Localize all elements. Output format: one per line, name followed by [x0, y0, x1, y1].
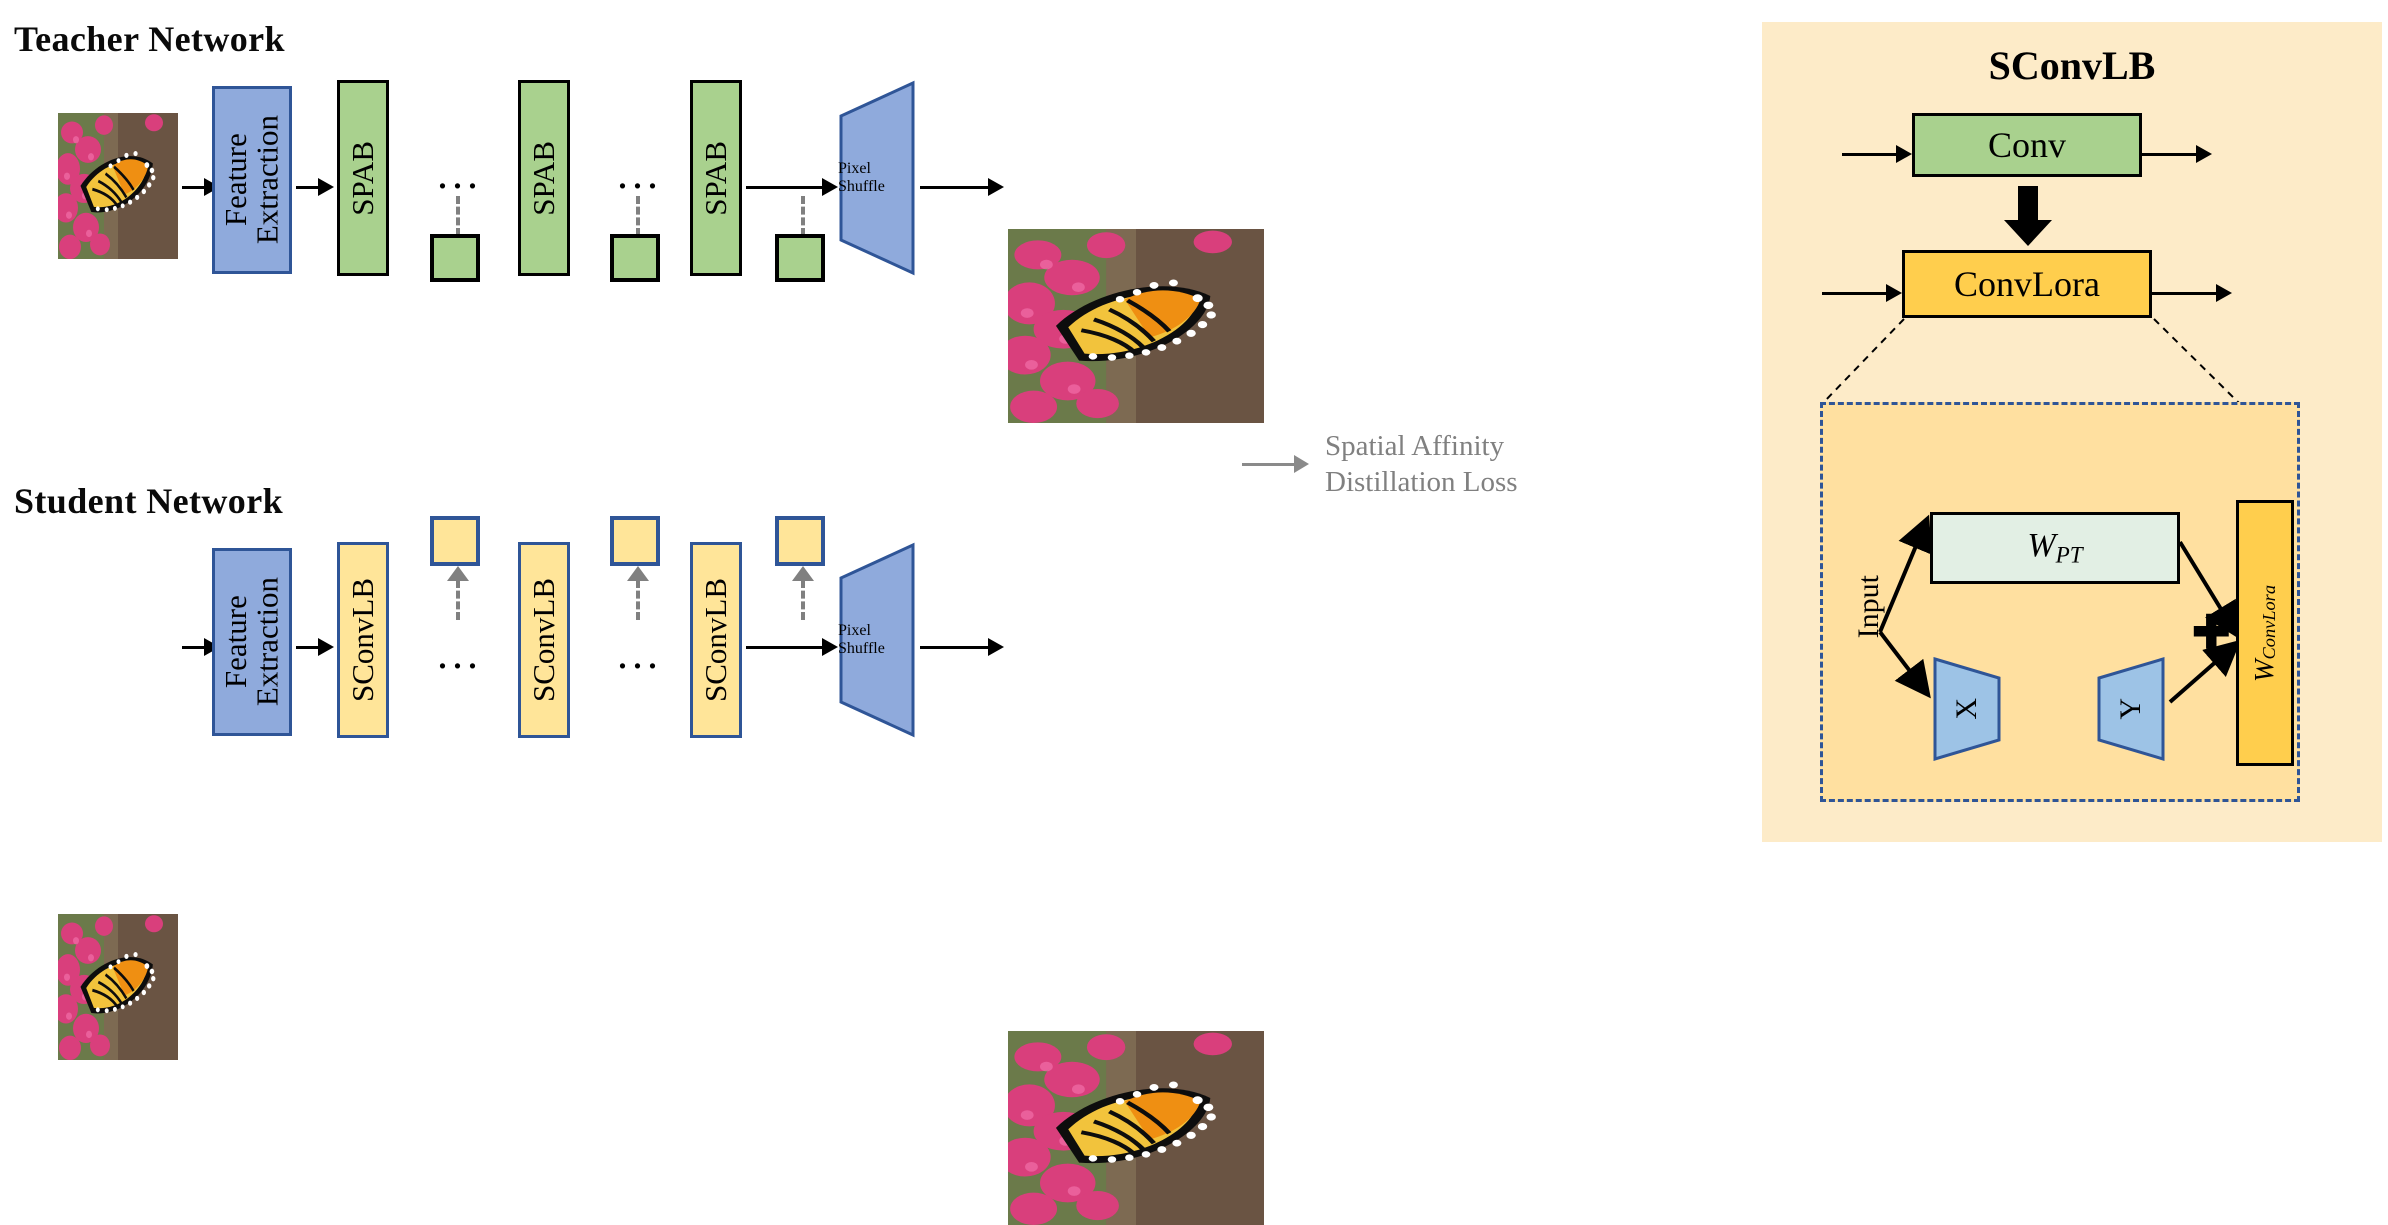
- student-sconvlb-block-2: SConvLB: [518, 542, 570, 738]
- student-dash-arrowhead-3: [792, 566, 814, 581]
- panel-conv-in-arrow: [1842, 145, 1912, 163]
- student-sconvlb-label-2: SConvLB: [528, 578, 560, 702]
- teacher-arrow-4: [920, 178, 1004, 196]
- teacher-feature-extraction-block: Feature Extraction: [212, 86, 292, 274]
- convlora-wconvlora-label: W: [2249, 659, 2279, 682]
- student-sconvlb-label-1: SConvLB: [347, 578, 379, 702]
- student-arrow-3: [746, 638, 838, 656]
- panel-convlora-block: ConvLora: [1902, 250, 2152, 318]
- student-dash-arrowhead-2: [627, 566, 649, 581]
- teacher-feature-square-2: [610, 234, 660, 282]
- student-dash-line-1: [456, 580, 460, 620]
- student-pixel-shuffle-block: Pixel Shuffle: [838, 542, 916, 738]
- student-arrow-4: [920, 638, 1004, 656]
- student-sconvlb-label-3: SConvLB: [700, 578, 732, 702]
- teacher-spab-block-1: SPAB: [337, 80, 389, 276]
- panel-conv-block: Conv: [1912, 113, 2142, 177]
- student-feature-square-2: [610, 516, 660, 566]
- student-sconvlb-block-3: SConvLB: [690, 542, 742, 738]
- teacher-spab-label-2: SPAB: [528, 141, 560, 216]
- teacher-dash-line-1: [456, 196, 460, 236]
- student-sconvlb-block-1: SConvLB: [337, 542, 389, 738]
- student-feature-square-1: [430, 516, 480, 566]
- student-dash-line-3: [801, 580, 805, 620]
- teacher-dash-line-3: [801, 196, 805, 236]
- student-ellipsis-2: ...: [617, 632, 662, 676]
- panel-conv-label: Conv: [1988, 124, 2066, 166]
- teacher-spab-label-1: SPAB: [347, 141, 379, 216]
- student-pixel-shuffle-label: Pixel Shuffle: [838, 622, 916, 658]
- teacher-pixel-shuffle-label: Pixel Shuffle: [838, 160, 916, 196]
- student-dash-line-2: [636, 580, 640, 620]
- teacher-feature-extraction-label: Feature Extraction: [220, 115, 283, 244]
- student-feature-square-3: [775, 516, 825, 566]
- student-output-image: [1008, 1031, 1264, 1225]
- panel-convlora-label: ConvLora: [1954, 263, 2100, 305]
- teacher-arrow-3: [746, 178, 838, 196]
- convlora-wconvlora-block: WConvLora: [2236, 500, 2294, 766]
- student-input-image: [58, 914, 178, 1060]
- panel-convlora-in-arrow: [1822, 284, 1902, 302]
- panel-conv-out-arrow: [2142, 145, 2212, 163]
- distillation-loss-arrow: [1242, 455, 1310, 473]
- convlora-wconvlora-subscript: ConvLora: [2260, 585, 2280, 659]
- panel-convlora-out-arrow: [2152, 284, 2232, 302]
- teacher-ellipsis-2: ...: [617, 152, 662, 196]
- teacher-spab-block-2: SPAB: [518, 80, 570, 276]
- convlora-plus-icon: ✚: [2192, 610, 2231, 656]
- teacher-input-image: [58, 113, 178, 259]
- teacher-feature-square-1: [430, 234, 480, 282]
- teacher-output-image: [1008, 229, 1264, 423]
- teacher-network-title: Teacher Network: [14, 18, 285, 60]
- sconvlb-panel-title: SConvLB: [1762, 42, 2382, 89]
- panel-expansion-guides: [1762, 316, 2382, 411]
- student-feature-extraction-label: Feature Extraction: [220, 577, 283, 706]
- teacher-feature-square-3: [775, 234, 825, 282]
- student-feature-extraction-block: Feature Extraction: [212, 548, 292, 736]
- student-dash-arrowhead-1: [447, 566, 469, 581]
- student-arrow-2: [296, 638, 334, 656]
- teacher-ellipsis-1: ...: [437, 152, 482, 196]
- teacher-dash-line-2: [636, 196, 640, 236]
- teacher-spab-block-3: SPAB: [690, 80, 742, 276]
- student-network-title: Student Network: [14, 480, 283, 522]
- teacher-arrow-2: [296, 178, 334, 196]
- distillation-loss-label: Spatial Affinity Distillation Loss: [1325, 428, 1518, 501]
- teacher-spab-label-3: SPAB: [700, 141, 732, 216]
- teacher-pixel-shuffle-block: Pixel Shuffle: [838, 80, 916, 276]
- student-ellipsis-1: ...: [437, 632, 482, 676]
- convlora-flow-arrows: [1820, 402, 2300, 802]
- panel-transform-arrow-icon: [1998, 186, 2058, 248]
